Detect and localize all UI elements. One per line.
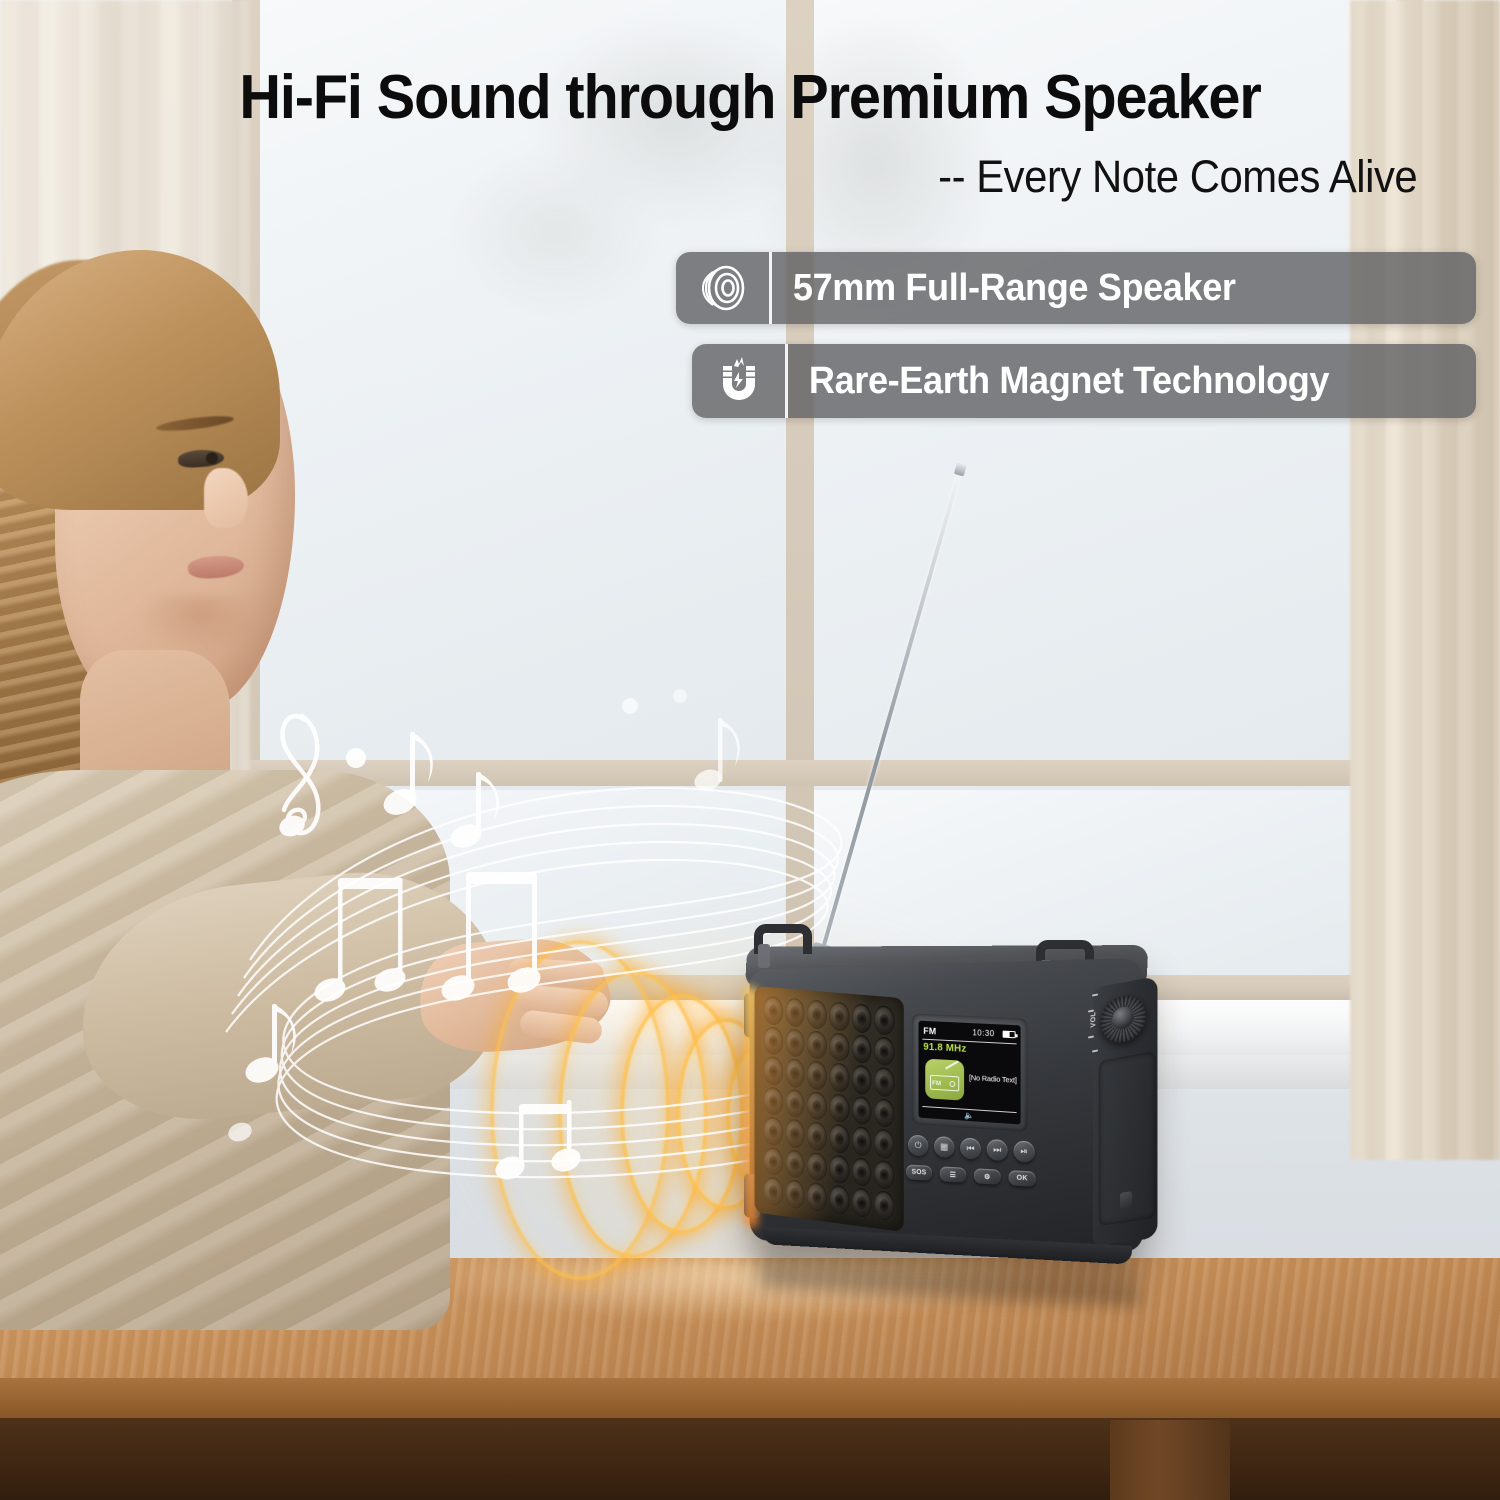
battery-icon [1003, 1031, 1016, 1039]
ok-button[interactable]: OK [1009, 1170, 1036, 1187]
headline-block: Hi-Fi Sound through Premium Speaker -- E… [0, 66, 1500, 203]
next-button[interactable]: ⏭ [987, 1139, 1008, 1161]
badge-magnet-label: Rare-Earth Magnet Technology [788, 344, 1442, 418]
lcd-screen: FM 10:30 91.8 MHz FM [No Radio Text] [919, 1021, 1021, 1125]
display-button[interactable]: ☰ [940, 1166, 966, 1182]
chin-shadow [140, 596, 260, 656]
badge-magnet: Rare-Earth Magnet Technology [692, 344, 1476, 418]
horseshoe-magnet-icon [692, 344, 788, 418]
fm-app-icon: FM [925, 1059, 964, 1101]
lcd-radio-text: [No Radio Text] [969, 1073, 1017, 1085]
sos-button[interactable]: SOS [906, 1164, 932, 1180]
badge-speaker: 57mm Full-Range Speaker [676, 252, 1476, 324]
speaker-icon: 🔈 [964, 1111, 974, 1121]
emergency-radio-device: FM 10:30 91.8 MHz FM [No Radio Text] [700, 930, 1180, 1280]
handle-pad [758, 944, 770, 968]
speaker-driver-icon [676, 252, 772, 324]
display-bezel: FM 10:30 91.8 MHz FM [No Radio Text] [912, 1013, 1028, 1132]
power-button[interactable]: ⏻ [908, 1135, 928, 1157]
hair-top [0, 250, 280, 510]
page-subtitle: -- Every Note Comes Alive [139, 151, 1460, 203]
page-title: Hi-Fi Sound through Premium Speaker [90, 66, 1411, 129]
settings-button[interactable]: ⚙ [974, 1168, 1001, 1185]
desk-leg [1110, 1420, 1230, 1500]
fm-icon-label: FM [932, 1080, 941, 1087]
band-button[interactable]: ▦ [934, 1136, 954, 1158]
desk-front-panel [0, 1418, 1500, 1500]
nose [204, 468, 248, 528]
product-marketing-image: FM 10:30 91.8 MHz FM [No Radio Text] [0, 0, 1500, 1500]
speaker-grille [755, 986, 904, 1232]
feature-badges: 57mm Full-Range Speaker Rare-Earth Mag [676, 252, 1476, 438]
desk-edge [0, 1378, 1500, 1422]
radio-glyph-icon: FM [930, 1068, 959, 1092]
previous-button[interactable]: ⏮ [960, 1137, 981, 1159]
play-button[interactable]: ⏯ [1014, 1140, 1035, 1162]
volume-label: VOL [1090, 1011, 1097, 1028]
grille-perforations [763, 996, 895, 1222]
lcd-frequency: 91.8 MHz [923, 1042, 966, 1055]
lcd-band-label: FM [923, 1025, 936, 1036]
badge-speaker-label: 57mm Full-Range Speaker [772, 252, 1441, 324]
lcd-clock: 10:30 [972, 1028, 994, 1038]
door-latch[interactable] [1120, 1191, 1132, 1209]
